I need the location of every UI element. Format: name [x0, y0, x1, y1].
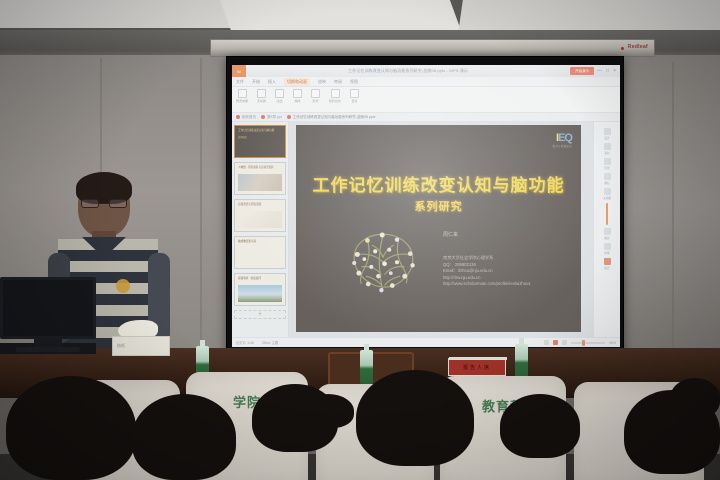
slide-thumbnail[interactable]: 脑成像结果示意 — [234, 236, 286, 269]
audience-head — [500, 394, 580, 458]
close-icon[interactable]: × — [613, 68, 616, 74]
ribbon-group-label: 无切换 — [257, 99, 266, 103]
audience-head — [132, 394, 236, 480]
tab-view[interactable]: 视图 — [350, 79, 358, 85]
shape-transition-icon[interactable] — [311, 89, 320, 98]
wps-logo-icon: W — [232, 65, 246, 77]
no-transition-icon[interactable] — [257, 89, 266, 98]
audience-head — [356, 370, 474, 466]
brand-dot-icon — [621, 47, 624, 50]
ribbon-group[interactable]: 淡出 — [275, 89, 284, 103]
slide-subtitle: 系列研究 — [296, 198, 581, 214]
document-tabstrip[interactable]: 稻壳首页 第5章.ppt 工作记忆训练改变认知与脑功能系列研究-金陵08.ppt… — [232, 113, 620, 122]
task-pane-item[interactable]: 智能 — [604, 243, 611, 255]
ceiling-panel — [0, 0, 258, 28]
ribbon-group[interactable]: 擦除 — [293, 89, 302, 103]
lens-left — [81, 199, 99, 208]
minimize-icon[interactable]: — — [597, 68, 602, 74]
thumbnail-image — [238, 174, 282, 191]
tab-file[interactable]: 文件 — [236, 79, 244, 85]
task-pane-label: 形状 — [604, 166, 609, 170]
brain-floral-illustration-icon — [344, 228, 422, 298]
more-transitions-icon[interactable] — [350, 89, 359, 98]
icon-library-icon[interactable] — [604, 173, 611, 180]
ribbon-group[interactable]: 随机线条 — [329, 89, 341, 103]
task-pane-label: 设计 — [604, 136, 609, 140]
task-pane-item[interactable]: 图标 — [604, 173, 611, 185]
tab-home[interactable]: 开始 — [252, 79, 260, 85]
ribbon-group[interactable]: 预览效果 — [236, 89, 248, 103]
app-titlebar: W 工作记忆训练改变认知与脑功能系列研究-金陵08.pptx - WPS 演示 … — [232, 65, 620, 77]
doc-tab-home[interactable]: 稻壳首页 — [236, 115, 256, 120]
task-pane-label: 关系图 — [603, 196, 611, 200]
file-icon — [287, 115, 291, 119]
projector-screen-housing: Redleaf — [210, 39, 655, 57]
material-icon[interactable] — [604, 143, 611, 150]
preview-icon[interactable] — [238, 89, 247, 98]
slide-thumbnail-pane[interactable]: 工作记忆训练改变认知与脑功能 系列研究 人物照 · 研究团队与实验室照片 实验范… — [232, 122, 289, 337]
ribbon-group-label: 更多 — [352, 99, 358, 103]
slide-thumbnail[interactable]: 实验范式与研究流程 — [234, 199, 286, 232]
thumbnail-title: 感谢聆听 · 欢迎提问 — [238, 277, 282, 280]
chart-icon[interactable] — [604, 228, 611, 235]
task-pane-item[interactable]: 关系图 — [603, 188, 611, 200]
random-lines-icon[interactable] — [331, 89, 340, 98]
task-pane-label: 智能 — [604, 251, 609, 255]
wall-right-section — [620, 55, 720, 355]
slide-author: 周仁来 — [443, 231, 458, 238]
tab-review[interactable]: 审阅 — [334, 79, 342, 85]
file-icon — [261, 115, 265, 119]
lens-bridge — [99, 203, 109, 204]
ribbon-group-label: 形状 — [313, 99, 319, 103]
task-pane-label: 图标 — [604, 181, 609, 185]
slide-title: 工作记忆训练改变认知与脑功能 — [296, 177, 581, 194]
ieq-logo-icon: IEQ — [556, 132, 572, 144]
lens-right — [109, 199, 127, 208]
doc-tab-label: 第5章.ppt — [267, 115, 282, 120]
document-title: 工作记忆训练改变认知与脑功能系列研究-金陵08.pptx - WPS 演示 — [246, 68, 570, 74]
design-icon[interactable] — [604, 128, 611, 135]
slide-canvas-pane[interactable]: IEQ 智力与情绪研究 工作记忆训练改变认知与脑功能 系列研究 — [289, 122, 593, 337]
right-task-pane[interactable]: 设计 素材 形状 图标 — [593, 122, 620, 337]
audience-head — [670, 378, 720, 418]
wall-seam — [672, 62, 674, 352]
screen-brand-label: Redleaf — [628, 44, 648, 50]
maximize-icon[interactable]: □ — [606, 68, 609, 74]
add-slide-button[interactable]: + — [234, 310, 286, 319]
thumbnail-title: 实验范式与研究流程 — [238, 203, 282, 206]
wps-presentation-window: W 工作记忆训练改变认知与脑功能系列研究-金陵08.pptx - WPS 演示 … — [232, 65, 620, 347]
window-controls[interactable]: — □ × — [597, 68, 616, 74]
fade-icon[interactable] — [275, 89, 284, 98]
ribbon-group[interactable]: 形状 — [311, 89, 320, 103]
tab-transitions[interactable]: 切换和动画 — [284, 78, 310, 86]
doc-tab-secondary[interactable]: 第5章.ppt — [261, 115, 282, 120]
doc-tab-active[interactable]: 工作记忆训练改变认知与脑功能系列研究-金陵08.pptx — [287, 115, 376, 120]
logo-letters-eq: EQ — [558, 132, 572, 144]
ribbon-tabbar[interactable]: 文件 开始 插入 切换和动画 放映 审阅 视图 — [232, 77, 620, 87]
tab-slideshow[interactable]: 放映 — [318, 79, 326, 85]
diagram-icon[interactable] — [604, 188, 611, 195]
ribbon-group-label: 淡出 — [277, 99, 283, 103]
monitor-screen — [0, 277, 96, 339]
ribbon-group-label: 预览效果 — [236, 99, 248, 103]
audience-area: 院 学院 教育科 学 — [0, 340, 720, 480]
thumbnail-image — [238, 285, 282, 302]
editor-workspace: 工作记忆训练改变认知与脑功能 系列研究 人物照 · 研究团队与实验室照片 实验范… — [232, 122, 620, 337]
glasses-icon — [81, 199, 127, 208]
task-pane-item[interactable]: 素材 — [604, 143, 611, 155]
wipe-icon[interactable] — [293, 89, 302, 98]
doc-tab-label: 工作记忆训练改变认知与脑功能系列研究-金陵08.pptx — [293, 115, 376, 120]
thumbnail-subtitle: 系列研究 — [238, 135, 247, 139]
ribbon-group[interactable]: 无切换 — [257, 89, 266, 103]
shirt-crest-icon — [116, 279, 130, 293]
thumbnail-title: 工作记忆训练改变认知与脑功能 — [238, 129, 282, 132]
ribbon-group[interactable]: 更多 — [350, 89, 359, 103]
thumbnail-title: 人物照 · 研究团队与实验室照片 — [238, 166, 282, 169]
docer-store-icon[interactable] — [604, 258, 611, 265]
tab-insert[interactable]: 插入 — [268, 79, 276, 85]
lecture-hall-photo: Redleaf W 工作记忆训练改变认知与脑功能系列研究-金陵08.pptx -… — [0, 0, 720, 480]
task-pane-scrollbar[interactable] — [606, 203, 608, 225]
ribbon-panel: 预览效果 无切换 淡出 擦除 — [232, 87, 620, 113]
start-presentation-button[interactable]: 开始演示 — [570, 67, 594, 75]
task-pane-label: 素材 — [604, 151, 609, 155]
task-pane-item[interactable]: 图表 — [604, 228, 611, 240]
thumbnail-image — [238, 211, 282, 228]
task-pane-label: 稻壳 — [604, 266, 609, 270]
projection-screen: W 工作记忆训练改变认知与脑功能系列研究-金陵08.pptx - WPS 演示 … — [226, 56, 624, 353]
slide-thumbnail[interactable]: 人物照 · 研究团队与实验室照片 — [234, 162, 286, 195]
logo-subtext: 智力与情绪研究 — [552, 144, 572, 148]
thumbnail-title: 脑成像结果示意 — [238, 240, 282, 243]
ribbon-group-label: 擦除 — [295, 99, 301, 103]
task-pane-item[interactable]: 形状 — [604, 158, 611, 170]
wall-seam — [200, 58, 202, 358]
shape-icon[interactable] — [604, 158, 611, 165]
audience-head — [6, 376, 136, 480]
task-pane-item[interactable]: 设计 — [604, 128, 611, 140]
screen-surface: W 工作记忆训练改变认知与脑功能系列研究-金陵08.pptx - WPS 演示 … — [232, 65, 620, 347]
task-pane-label: 图表 — [604, 236, 609, 240]
audience-head — [302, 394, 354, 428]
task-pane-item[interactable]: 稻壳 — [604, 258, 611, 270]
scholarmate-line: http://www.scholarmate.com/profile/renla… — [443, 281, 531, 288]
ribbon-group-label: 随机线条 — [329, 99, 341, 103]
doc-tab-label: 稻壳首页 — [242, 115, 256, 120]
current-slide[interactable]: IEQ 智力与情绪研究 工作记忆训练改变认知与脑功能 系列研究 — [296, 125, 581, 332]
slide-affiliation-block: 南京大学社会学院心理学系 QQ： 289902136 Email：rlzhou@… — [443, 255, 531, 288]
smart-icon[interactable] — [604, 243, 611, 250]
slide-thumbnail[interactable]: 工作记忆训练改变认知与脑功能 系列研究 — [234, 125, 286, 158]
docer-icon — [236, 115, 240, 119]
slide-thumbnail[interactable]: 感谢聆听 · 欢迎提问 — [234, 273, 286, 306]
